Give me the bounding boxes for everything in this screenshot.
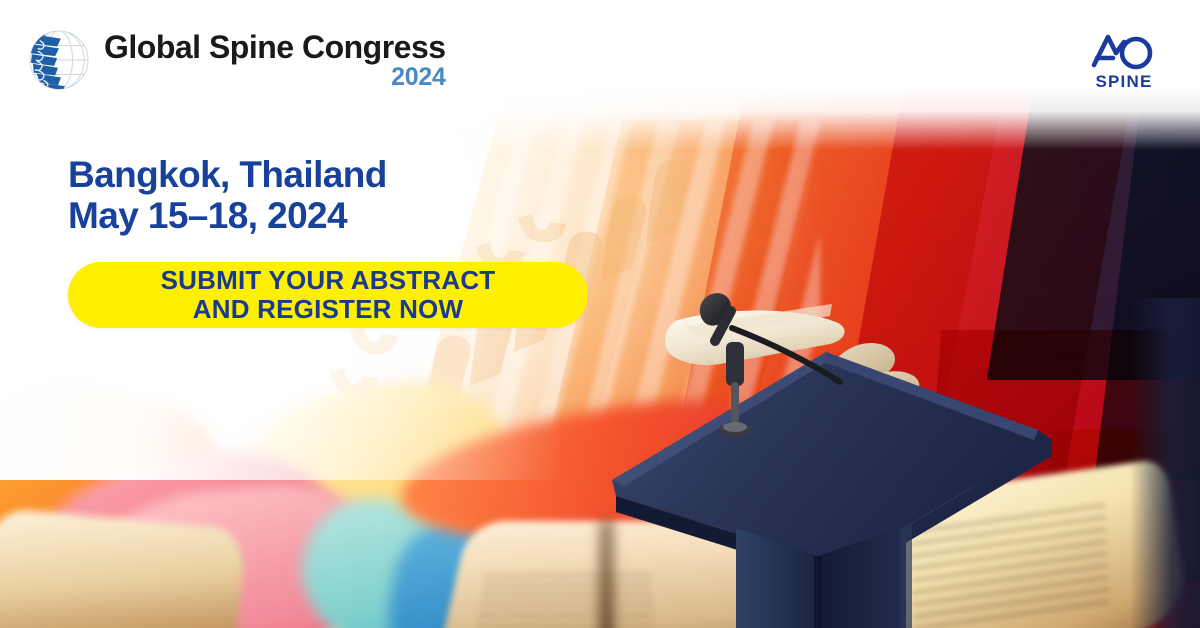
brand-lockup: Global Spine Congress 2024 [28,29,446,91]
page-title: Global Spine Congress [104,31,446,63]
headline-dates: May 15–18, 2024 [68,196,688,237]
ao-spine-logo-icon: SPINE [1086,27,1162,93]
brand-text-block: Global Spine Congress 2024 [104,31,446,90]
globe-spine-icon [28,29,90,91]
event-promo-banner: Global Spine Congress 2024 SPINE Bangkok… [0,0,1200,628]
podium-lectern-icon [600,290,1120,628]
ao-spine-wordmark: SPINE [1095,72,1152,91]
banner-header: Global Spine Congress 2024 SPINE [0,0,1200,120]
event-headline: Bangkok, Thailand May 15–18, 2024 [68,155,688,236]
brand-year: 2024 [104,65,446,90]
banner-copy-block: Bangkok, Thailand May 15–18, 2024 SUBMIT… [68,155,688,328]
headline-location: Bangkok, Thailand [68,154,387,195]
submit-abstract-register-button[interactable]: SUBMIT YOUR ABSTRACT AND REGISTER NOW [68,262,588,328]
corner-shadow [1130,298,1200,628]
cta-label-line1: SUBMIT YOUR ABSTRACT [161,266,496,295]
cta-label-line2: AND REGISTER NOW [193,295,463,324]
